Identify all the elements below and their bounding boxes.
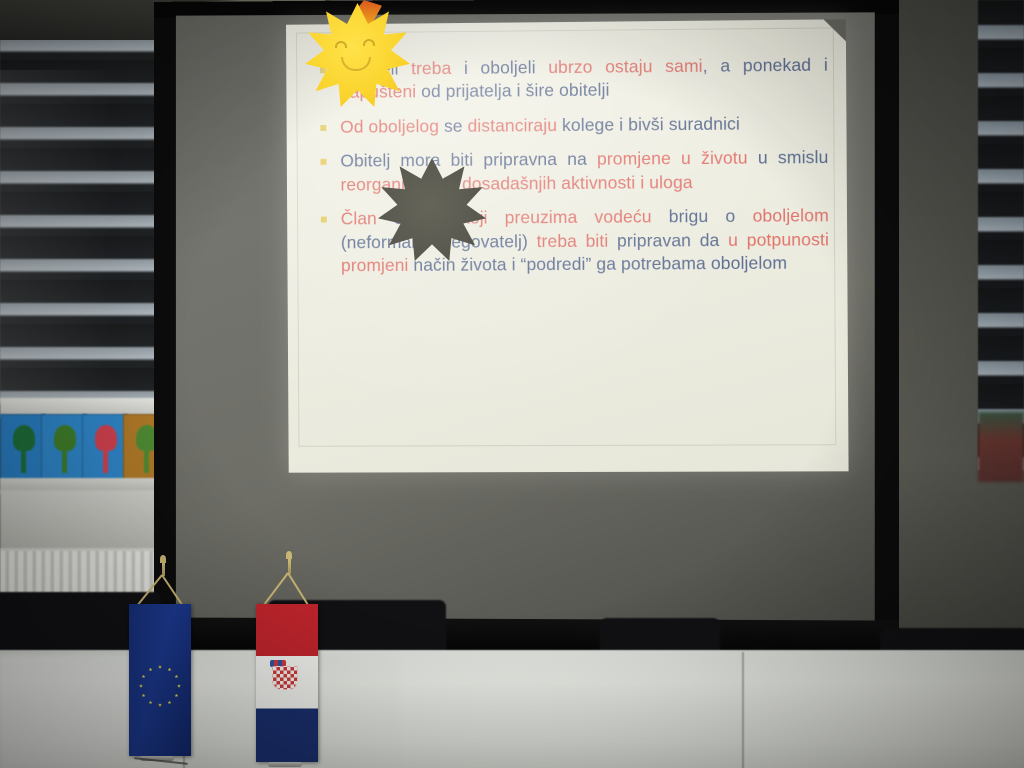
bullet-4-segment-8: pripravan da	[617, 230, 728, 251]
hr-checkerboard-shield-icon	[272, 666, 298, 690]
hr-flag-stand	[268, 762, 302, 767]
window-blinds-left-header	[0, 0, 165, 40]
bullet-3-segment-3: promjene u životu	[597, 148, 748, 169]
eu-star-icon-5	[174, 694, 178, 698]
bullet-2-segment-4: kolege i bivši suradnici	[562, 113, 740, 134]
hr-flag-finial-icon	[286, 551, 292, 559]
bullet-4-segment-3: koji preuzima vodeću	[461, 206, 669, 227]
eu-star-icon-6	[168, 700, 172, 704]
painting-stem	[103, 447, 108, 473]
painting-stem	[144, 447, 149, 473]
eu-star-icon-9	[142, 694, 146, 698]
bullet-2-segment-3: distanciraju	[467, 115, 562, 136]
eu-flag-cloth	[129, 604, 191, 756]
eu-star-icon-12	[149, 668, 153, 672]
bullet-2-segment-2: se	[444, 116, 468, 136]
bullet-3-segment-2: biti pripravna na	[451, 149, 598, 170]
flag-european-union	[120, 560, 230, 768]
bullet-4-segment-4: brigu o	[669, 206, 753, 227]
eu-star-icon-10	[139, 684, 143, 688]
eu-star-icon-7	[158, 703, 162, 707]
slide-bullet-list: Oboljeli treba i oboljeli ubrzo ostaju s…	[312, 54, 829, 289]
window-blinds-left	[0, 16, 160, 416]
eu-star-icon-3	[174, 675, 178, 679]
bullet-2-segment-1: Od oboljelog	[340, 116, 444, 137]
photo-scene: Oboljeli treba i oboljeli ubrzo ostaju s…	[0, 0, 1024, 768]
painting-stem	[21, 447, 26, 473]
bullet-3-segment-4: u smislu	[748, 147, 829, 168]
bullet-4-segment-10: način života i “podredi” ga potrebama ob…	[413, 253, 787, 275]
eu-flag-finial-icon	[160, 555, 166, 563]
eu-star-icon-8	[149, 700, 153, 704]
window-blinds-right	[978, 0, 1024, 470]
bullet-1-segment-4: ubrzo ostaju sami	[548, 56, 703, 77]
bullet-1-segment-5: , a ponekad i	[703, 55, 828, 76]
bullet-1-segment-7: od prijatelja i šire obitelji	[421, 80, 609, 102]
flag-croatia	[248, 556, 358, 768]
painting-jellyfish-green	[41, 414, 87, 480]
eu-star-icon-4	[177, 684, 181, 688]
bullet-1-segment-2: treba	[411, 58, 464, 78]
bullet-4-segment-5: oboljelom	[752, 205, 828, 226]
bullet-4-segment-7: treba biti	[537, 230, 618, 251]
eu-star-icon-2	[168, 668, 172, 672]
hr-flag-cloth	[256, 604, 318, 762]
eu-star-icon-1	[158, 665, 162, 669]
painting-stem	[62, 447, 67, 473]
eu-star-icon-11	[142, 675, 146, 679]
window-outside-view	[978, 412, 1024, 482]
slide-bullet-2: Od oboljelog se distanciraju kolege i bi…	[312, 112, 828, 140]
table-seam-right	[742, 652, 744, 768]
painting-jellyfish-red	[82, 414, 128, 480]
painting-tree-blue	[0, 414, 46, 480]
slide-corner-notch	[824, 19, 846, 41]
bullet-1-segment-3: i oboljeli	[464, 57, 548, 78]
